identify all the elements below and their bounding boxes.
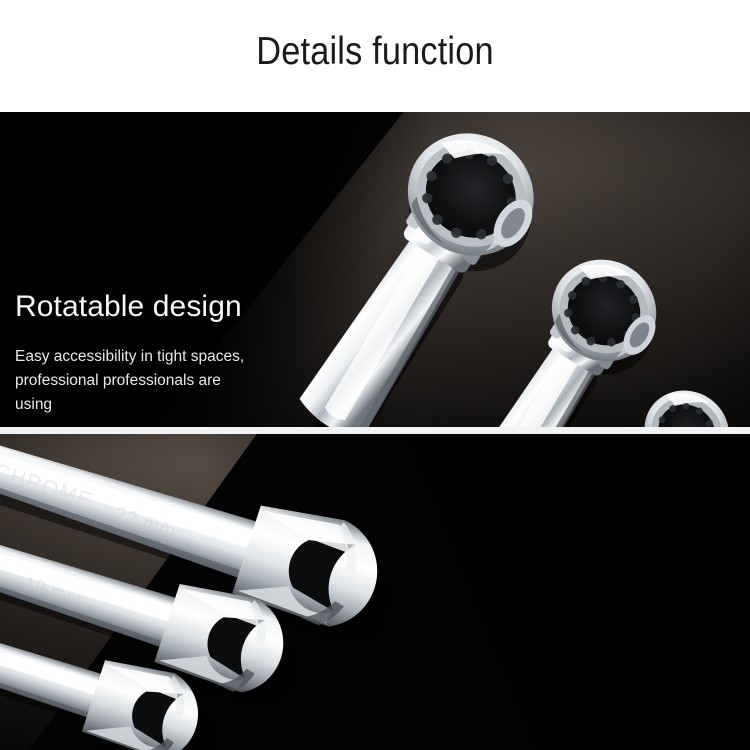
rotatable-design-heading: Rotatable design	[15, 290, 244, 324]
header-band: Details function	[0, 0, 750, 112]
body-line: professional professionals are	[15, 369, 244, 393]
rotatable-design-body: Easy accessibility in tight spaces, prof…	[15, 345, 244, 417]
rotatable-design-text-block: Rotatable design Easy accessibility in t…	[15, 290, 244, 417]
panel-rotatable-design: Rotatable design Easy accessibility in t…	[0, 112, 750, 427]
open-end-wrench-17mm: CHROME 17 mm	[0, 532, 262, 750]
panel-patent-driven-design: CHROME 22 mm	[0, 434, 750, 750]
body-line: using	[15, 393, 244, 417]
ratchet-wrench-small	[552, 380, 742, 427]
page-title: Details function	[45, 30, 705, 74]
product-detail-image: Details function	[0, 0, 750, 750]
panel-divider	[0, 427, 750, 434]
body-line: Easy accessibility in tight spaces,	[15, 345, 244, 369]
